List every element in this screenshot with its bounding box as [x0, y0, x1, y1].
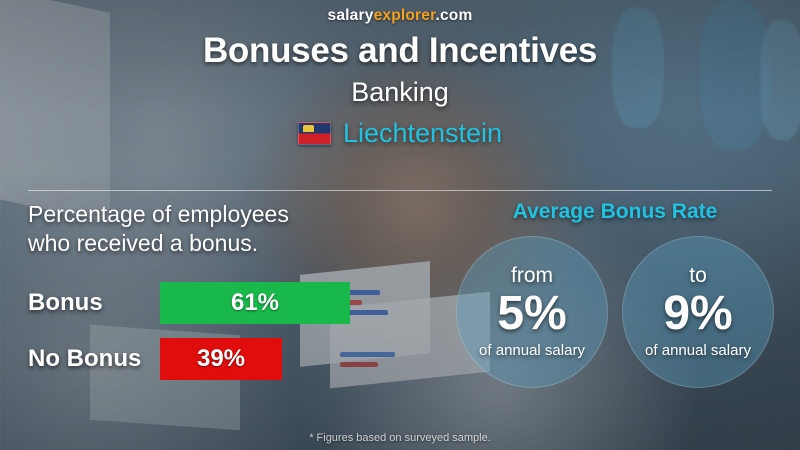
footnote: * Figures based on surveyed sample.: [0, 432, 800, 444]
bonus-rate-from-note: of annual salary: [479, 342, 585, 359]
page-subtitle: Banking: [0, 77, 800, 108]
bonus-rate-from-value: 5%: [497, 288, 566, 341]
brand-part-explorer: explorer: [374, 7, 436, 24]
bonus-rate-to-note: of annual salary: [645, 342, 751, 359]
bonus-rate-to-value: 9%: [663, 288, 732, 341]
site-brand: salaryexplorer.com: [0, 0, 800, 25]
page-title: Bonuses and Incentives: [0, 31, 800, 71]
brand-part-salary: salary: [328, 7, 374, 24]
bonus-percentage-heading: Percentage of employees who received a b…: [28, 200, 448, 258]
bonus-rate-to-circle: to 9% of annual salary: [622, 236, 774, 388]
average-bonus-rate-circles: from 5% of annual salary to 9% of annual…: [455, 236, 775, 388]
bonus-rate-from-circle: from 5% of annual salary: [456, 236, 608, 388]
average-bonus-rate-title: Average Bonus Rate: [455, 200, 775, 224]
chart-row-no-bonus: No Bonus 39%: [28, 338, 448, 380]
bonus-percentage-section: Percentage of employees who received a b…: [28, 200, 448, 394]
liechtenstein-flag-icon: [298, 122, 331, 145]
crown-icon: [303, 125, 314, 132]
bonus-bar-chart: Bonus 61% No Bonus 39%: [28, 282, 448, 380]
chart-bar-no-bonus: 39%: [160, 338, 282, 380]
country-row: Liechtenstein: [0, 118, 800, 149]
bonus-heading-line1: Percentage of employees: [28, 200, 448, 229]
chart-bar-bonus: 61%: [160, 282, 350, 324]
country-label: Liechtenstein: [343, 118, 502, 149]
bonus-rate-from-word: from: [511, 265, 553, 286]
chart-label-bonus: Bonus: [28, 289, 160, 317]
chart-row-bonus: Bonus 61%: [28, 282, 448, 324]
bonus-rate-to-word: to: [689, 265, 707, 286]
bonus-heading-line2: who received a bonus.: [28, 229, 448, 258]
chart-label-no-bonus: No Bonus: [28, 345, 160, 373]
divider: [28, 190, 772, 191]
brand-part-tld: .com: [435, 7, 472, 24]
average-bonus-rate-section: Average Bonus Rate from 5% of annual sal…: [455, 200, 775, 388]
